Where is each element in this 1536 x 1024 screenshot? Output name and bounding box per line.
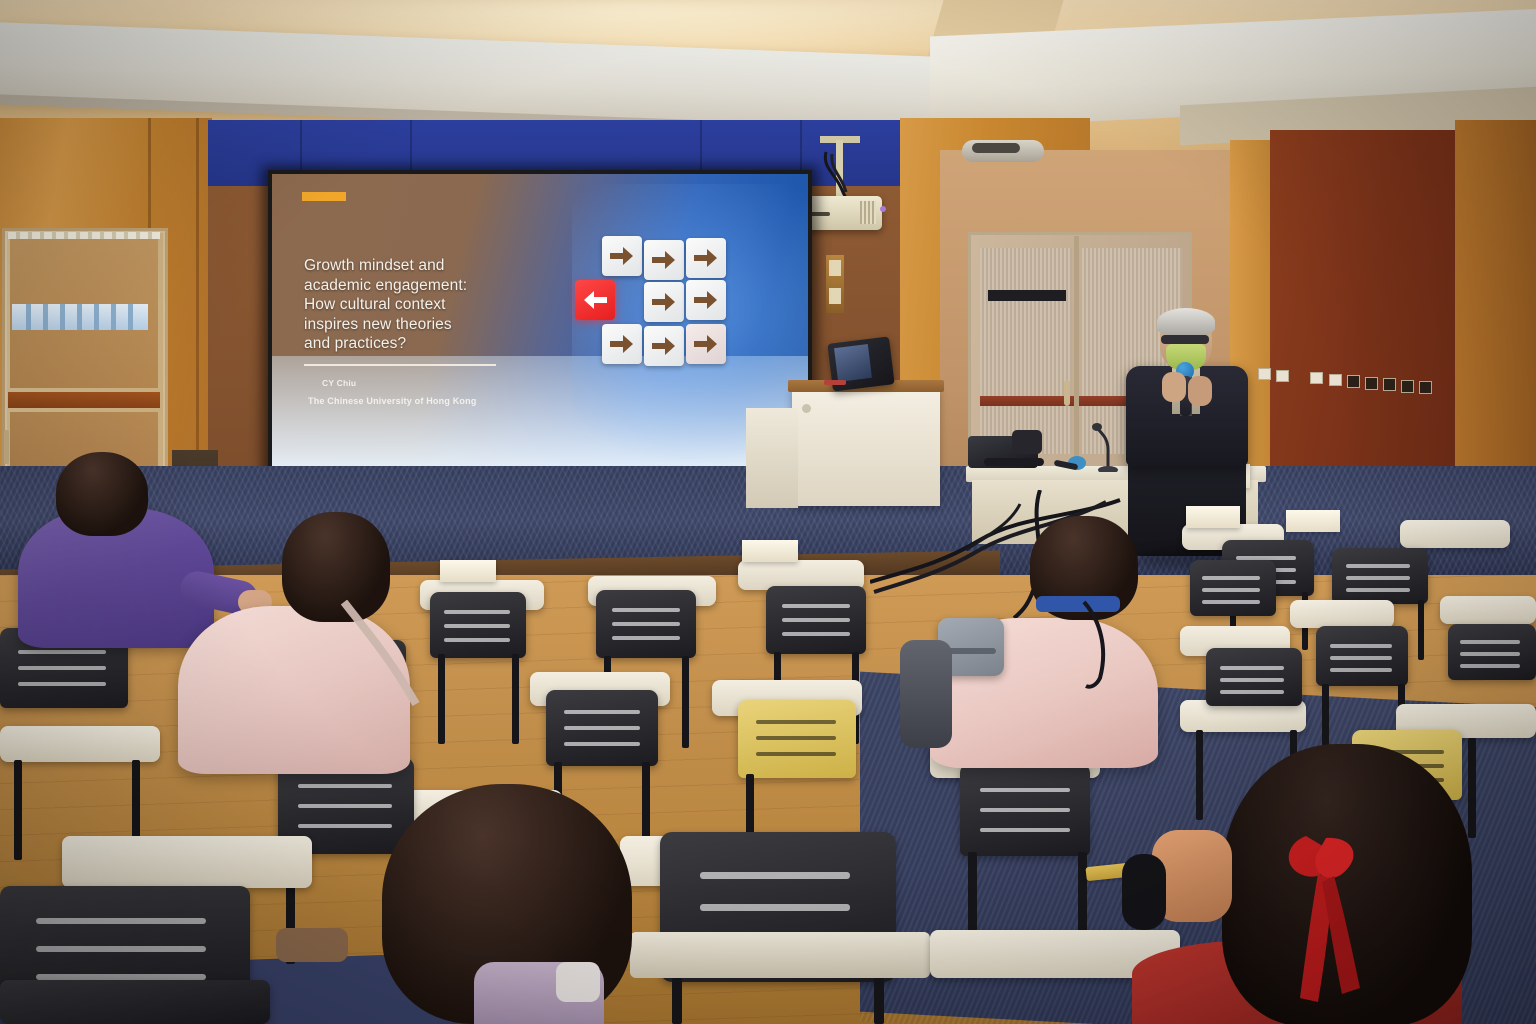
name-tent-card — [1186, 506, 1240, 528]
slide-title-line: and practices? — [304, 334, 534, 354]
ceiling-speaker-grille — [972, 143, 1020, 153]
presenter-hand-right — [1188, 376, 1212, 406]
attendee-pink-left-shoe — [276, 928, 348, 962]
document-camera-head — [1012, 430, 1042, 454]
chair-backrest — [1332, 548, 1428, 604]
wall-switch-plate[interactable] — [1383, 378, 1396, 391]
slide-organization: The Chinese University of Hong Kong — [308, 396, 477, 406]
door-black-band — [988, 290, 1066, 301]
name-tent-card — [742, 540, 798, 562]
chair-leg — [14, 760, 22, 860]
wall-switch-plate[interactable] — [1401, 380, 1414, 393]
chair-leg — [1196, 730, 1203, 820]
chair-backrest — [1190, 560, 1276, 616]
arrow-block — [644, 326, 684, 366]
slide-title-line: Growth mindset and — [304, 256, 534, 276]
wall-switch-plate[interactable] — [1419, 381, 1432, 394]
lecture-hall-photo: Growth mindset and academic engagement: … — [0, 0, 1536, 1024]
door-right-left-leaf-fabric — [980, 248, 1072, 454]
chair-leg — [1468, 738, 1476, 838]
attendee-pink-right-leg — [900, 640, 952, 748]
arrow-block — [644, 282, 684, 322]
presenter-hand-left — [1162, 372, 1186, 402]
chair-backrest — [0, 980, 270, 1024]
arrow-block — [686, 238, 726, 278]
slide-divider-rule — [304, 364, 496, 366]
attendee-foreground-left-mask — [556, 962, 600, 1002]
red-hair-ribbon — [1272, 830, 1402, 1020]
camera-base — [984, 458, 1044, 466]
cabinet-knob[interactable] — [802, 404, 811, 413]
chair-tablet-arm — [1290, 600, 1394, 628]
projection-screen: Growth mindset and academic engagement: … — [272, 174, 808, 466]
podium-microphone — [1088, 420, 1128, 472]
chair-tablet-arm — [1440, 596, 1536, 624]
shoulder-strap — [330, 600, 450, 720]
av-cabinet — [792, 388, 940, 506]
chair-backrest-yellow — [738, 700, 856, 778]
presenter-glasses — [1161, 335, 1209, 344]
chair-tablet-arm — [62, 836, 312, 888]
wall-plate-upper — [829, 260, 841, 276]
door-handle[interactable] — [4, 430, 9, 464]
projector-lens — [880, 206, 886, 212]
wall-outlet-plate[interactable] — [1310, 372, 1323, 384]
slide-title: Growth mindset and academic engagement: … — [304, 256, 534, 354]
slide-accent-bar — [302, 192, 346, 201]
slide-title-line: How cultural context — [304, 295, 534, 315]
slide-title-line: academic engagement: — [304, 276, 534, 296]
arrow-block — [644, 240, 684, 280]
door-center-mullion — [1074, 236, 1079, 476]
desk-marker[interactable] — [824, 380, 846, 385]
name-tent-card — [440, 560, 496, 582]
wall-switch-plate[interactable] — [1365, 377, 1378, 390]
door-window-strip — [12, 304, 148, 330]
arrow-block — [602, 236, 642, 276]
chair-backrest — [546, 690, 658, 766]
door-right-handle[interactable] — [1064, 380, 1070, 406]
door-mid-rail — [8, 392, 160, 408]
av-monitor-screen — [834, 344, 872, 382]
chair-backrest — [1316, 626, 1408, 686]
chair-leg — [682, 656, 689, 748]
chair-backrest — [596, 590, 696, 658]
slide-author: CY Chiu — [322, 378, 356, 388]
name-tent-card — [1286, 510, 1340, 532]
arrow-block-highlight — [575, 280, 615, 320]
side-cabinet — [746, 408, 798, 508]
chair-seat — [630, 932, 930, 978]
chair-leg — [874, 978, 884, 1024]
arrow-block — [686, 324, 726, 364]
chair-tablet-arm — [1400, 520, 1510, 548]
chair-tablet-arm — [0, 726, 160, 762]
wall-outlet-plate[interactable] — [1329, 374, 1342, 386]
presenter-hair — [1157, 308, 1215, 336]
lanyard-cord — [1078, 600, 1138, 690]
chair-leg — [1418, 600, 1424, 660]
chair-backrest — [1448, 624, 1536, 680]
chair-backrest — [1206, 648, 1302, 706]
door-transom-strip — [8, 232, 160, 239]
attendee-red-shoulder — [1122, 854, 1166, 930]
chair-backrest — [960, 764, 1090, 856]
projector-vent — [860, 201, 876, 224]
wall-outlet-plate[interactable] — [1276, 370, 1289, 382]
wall-plate-lower — [829, 288, 841, 304]
wall-switch-plate[interactable] — [1347, 375, 1360, 388]
attendee-purple-hair — [56, 452, 148, 536]
chair-leg — [672, 978, 682, 1024]
wall-outlet-plate[interactable] — [1258, 368, 1271, 380]
chair-backrest — [766, 586, 866, 654]
arrow-block — [686, 280, 726, 320]
slide-title-line: inspires new theories — [304, 315, 534, 335]
chair-leg — [512, 654, 519, 744]
arrow-block — [602, 324, 642, 364]
